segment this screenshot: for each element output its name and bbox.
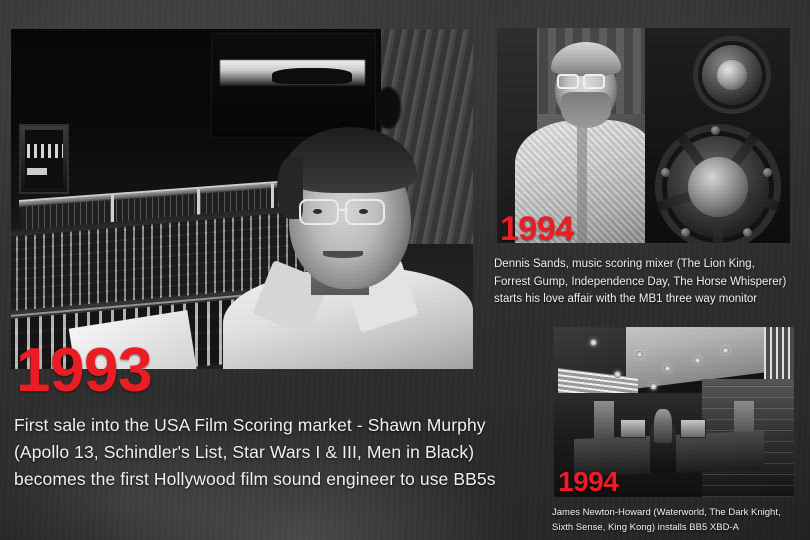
caption-1994-james-newton-howard: James Newton-Howard (Waterworld, The Dar… bbox=[552, 506, 802, 535]
year-label-1994-sands: 1994 bbox=[500, 212, 574, 246]
year-label-1993: 1993 bbox=[16, 340, 152, 402]
caption-1994-dennis-sands: Dennis Sands, music scoring mixer (The L… bbox=[494, 256, 794, 309]
year-label-1994-newton-howard: 1994 bbox=[558, 468, 618, 496]
timeline-slide: 1993 1994 1994 First sale into the USA F… bbox=[0, 0, 810, 540]
caption-1993-shawn-murphy: First sale into the USA Film Scoring mar… bbox=[14, 412, 522, 493]
